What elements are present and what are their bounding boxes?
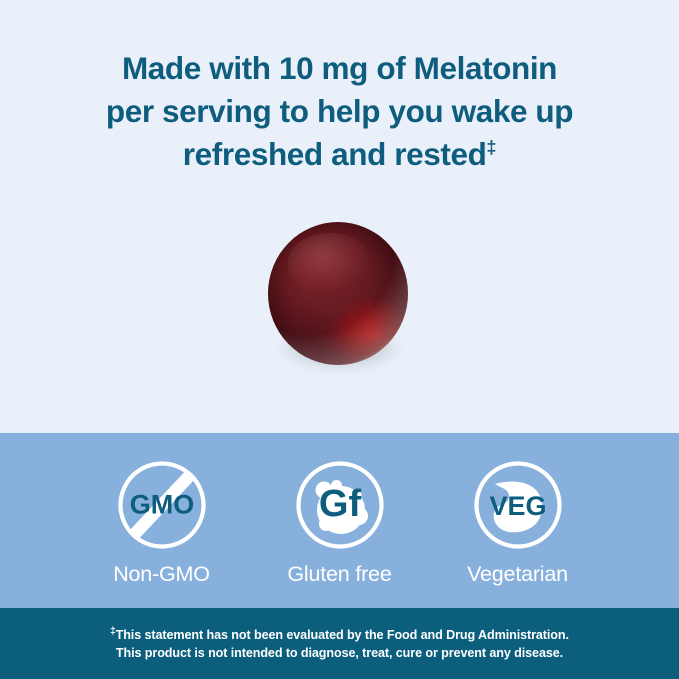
vegetarian-leaf-icon: VEG <box>471 458 565 552</box>
headline-line-3: refreshed and rested‡ <box>55 133 624 176</box>
disclaimer-line-2: This product is not intended to diagnose… <box>116 644 563 662</box>
gummy-sheen <box>288 233 372 293</box>
badge-gluten-free: Gf Gluten free <box>251 433 429 587</box>
benefits-band: GMO Non-GMO <box>0 433 679 608</box>
legal-disclaimer: ‡This statement has not been evaluated b… <box>0 608 679 679</box>
melatonin-gummy-icon <box>268 222 408 365</box>
hero-section: Made with 10 mg of Melatonin per serving… <box>0 0 679 433</box>
gluten-free-icon-svg: Gf <box>293 458 387 552</box>
gluten-free-mark-text: Gf <box>318 483 361 525</box>
badge-row: GMO Non-GMO <box>0 433 679 608</box>
product-image <box>268 222 410 368</box>
disclaimer-line-1: ‡This statement has not been evaluated b… <box>110 626 569 644</box>
gluten-free-icon: Gf <box>293 458 387 552</box>
badge-label-non-gmo: Non-GMO <box>113 562 210 587</box>
disclaimer-line-1-text: This statement has not been evaluated by… <box>116 628 569 642</box>
non-gmo-icon: GMO <box>115 458 209 552</box>
page-title: Made with 10 mg of Melatonin per serving… <box>0 47 679 176</box>
non-gmo-mark-text: GMO <box>129 490 194 520</box>
headline-line-2: per serving to help you wake up <box>55 90 624 133</box>
headline-footnote-marker: ‡ <box>486 137 496 158</box>
badge-vegetarian: VEG Vegetarian <box>429 433 607 587</box>
gummy-rim-highlight <box>268 222 408 365</box>
vegetarian-icon-svg: VEG <box>471 458 565 552</box>
headline-line-3-text: refreshed and rested <box>183 136 487 172</box>
badge-non-gmo: GMO Non-GMO <box>73 433 251 587</box>
headline-line-1: Made with 10 mg of Melatonin <box>55 47 624 90</box>
vegetarian-mark-text: VEG <box>489 491 546 521</box>
product-marketing-image: Made with 10 mg of Melatonin per serving… <box>0 0 679 679</box>
non-gmo-icon-svg: GMO <box>115 458 209 552</box>
badge-label-gluten-free: Gluten free <box>287 562 391 587</box>
badge-label-vegetarian: Vegetarian <box>467 562 568 587</box>
